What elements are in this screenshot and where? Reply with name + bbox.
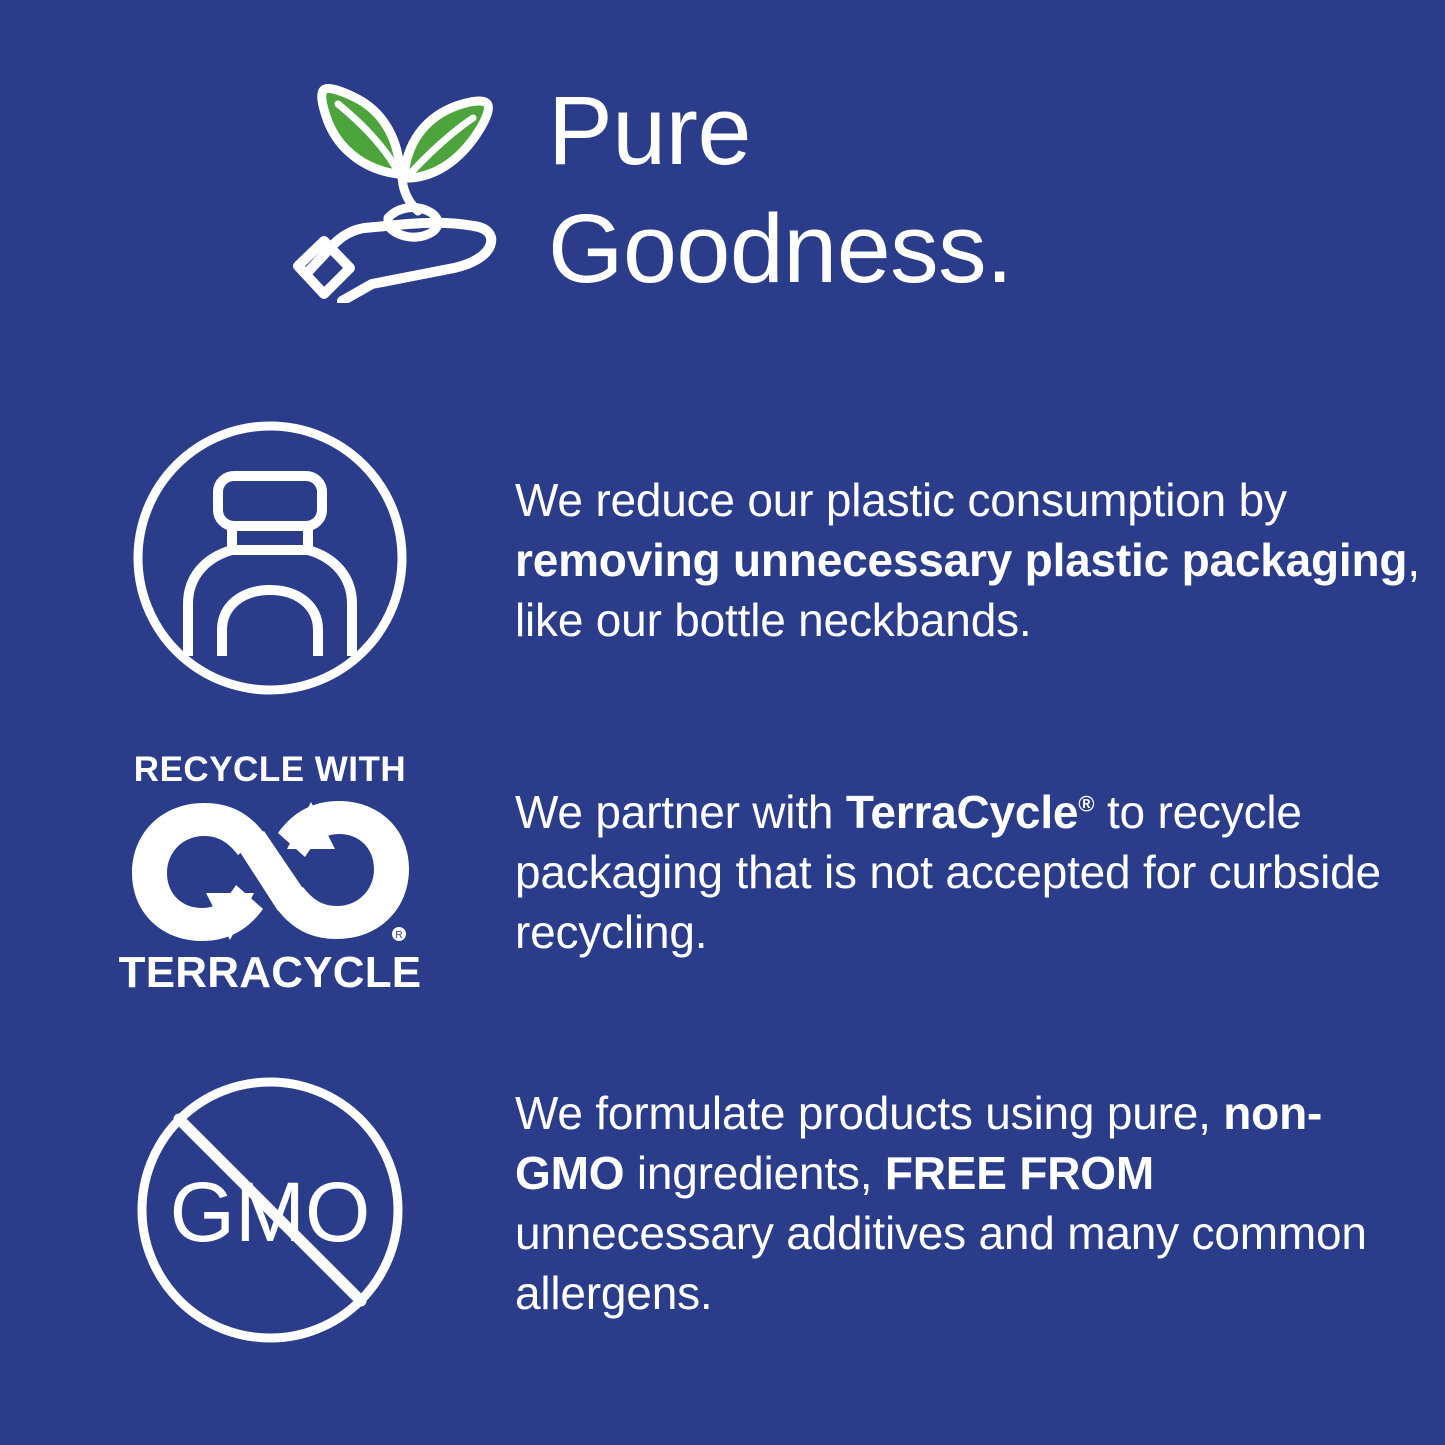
svg-text:R: R xyxy=(395,930,402,941)
brand-header: Pure Goodness. xyxy=(290,72,1190,322)
feature-row-plastic: We reduce our plastic consumption by rem… xyxy=(120,418,1420,698)
feature-icon-wrap-plastic xyxy=(120,418,420,698)
terracycle-lockup: RECYCLE WITH xyxy=(128,752,413,995)
pure-goodness-infographic: Pure Goodness. We reduce ou xyxy=(0,0,1445,1445)
feature-icon-wrap-gmo: GMO xyxy=(120,1075,420,1345)
terracycle-top-label: RECYCLE WITH xyxy=(134,752,406,787)
feature-text-gmo: We formulate products using pure, non-GM… xyxy=(515,1075,1420,1323)
no-gmo-icon: GMO xyxy=(135,1075,405,1345)
feature-text-gmo-part-0: We formulate products using pure, xyxy=(515,1087,1223,1139)
terracycle-bottom-label: TERRACYCLE xyxy=(119,951,422,995)
plastic-bottle-in-circle-icon xyxy=(130,418,410,698)
feature-text-plastic: We reduce our plastic consumption by rem… xyxy=(515,418,1420,650)
feature-text-plastic-part-0: We reduce our plastic consumption by xyxy=(515,474,1287,526)
feature-text-terracycle-registered: ® xyxy=(1078,792,1094,817)
feature-text-terracycle-part-0: We partner with xyxy=(515,786,846,838)
feature-row-terracycle: RECYCLE WITH xyxy=(120,752,1420,995)
feature-row-gmo: GMO We formulate products using pure, no… xyxy=(120,1075,1420,1345)
registered-mark-icon: R xyxy=(392,927,406,941)
feature-text-gmo-part-4: unnecessary additives and many common al… xyxy=(515,1207,1367,1319)
page-title: Pure Goodness. xyxy=(548,72,1013,309)
feature-text-terracycle: We partner with TerraCycle® to recycle p… xyxy=(515,752,1420,962)
feature-text-plastic-part-1: removing unnecessary plastic packaging xyxy=(515,534,1407,586)
terracycle-infinity-logo-icon: R xyxy=(128,797,413,945)
feature-icon-wrap-terracycle: RECYCLE WITH xyxy=(120,752,420,995)
feature-text-terracycle-part-1: TerraCycle xyxy=(846,786,1078,838)
no-gmo-label: GMO xyxy=(170,1165,371,1259)
hand-holding-plant-icon xyxy=(290,78,520,303)
feature-text-gmo-part-3: FREE FROM xyxy=(885,1147,1154,1199)
feature-text-gmo-part-2: ingredients, xyxy=(624,1147,885,1199)
